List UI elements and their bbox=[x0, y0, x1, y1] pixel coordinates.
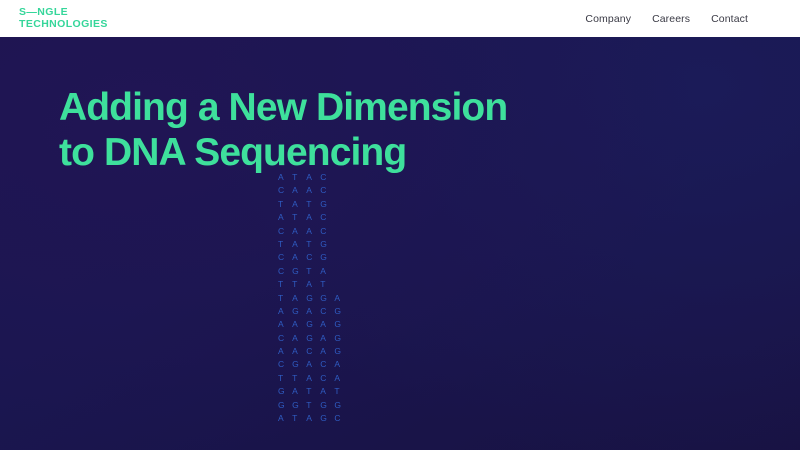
dna-row: CAGAG bbox=[278, 330, 348, 343]
dna-row: TAGGA bbox=[278, 290, 348, 303]
nav-link-careers[interactable]: Careers bbox=[652, 13, 690, 25]
dna-row: CAAC bbox=[278, 182, 348, 195]
primary-nav: Company Careers Contact bbox=[585, 13, 748, 25]
hero-headline-line-1: Adding a New Dimension bbox=[59, 85, 507, 130]
dna-base: A bbox=[278, 412, 292, 425]
dna-base: C bbox=[334, 412, 348, 425]
dna-row: CACG bbox=[278, 249, 348, 262]
dna-base: A bbox=[306, 412, 320, 425]
dna-row: CGTA bbox=[278, 263, 348, 276]
page-root: S—NGLE TECHNOLOGIES Company Careers Cont… bbox=[0, 0, 800, 450]
dna-row: ATAC bbox=[278, 209, 348, 222]
dna-row: TATG bbox=[278, 236, 348, 249]
brand-logo[interactable]: S—NGLE TECHNOLOGIES bbox=[19, 7, 108, 29]
dna-row: GATAT bbox=[278, 383, 348, 396]
brand-logo-line-1: S—NGLE bbox=[19, 7, 108, 18]
nav-link-company[interactable]: Company bbox=[585, 13, 631, 25]
dna-base: G bbox=[320, 412, 334, 425]
dna-row: AAGAG bbox=[278, 316, 348, 329]
dna-row: CGACA bbox=[278, 356, 348, 369]
dna-sequence-grid: ATACCAACTATGATACCAACTATGCACGCGTATTATTAGG… bbox=[278, 169, 348, 423]
dna-base: T bbox=[292, 412, 306, 425]
dna-row: TATG bbox=[278, 196, 348, 209]
dna-row: TTAT bbox=[278, 276, 348, 289]
dna-row: TTACA bbox=[278, 370, 348, 383]
nav-link-contact[interactable]: Contact bbox=[711, 13, 748, 25]
hero-headline-line-2: to DNA Sequencing bbox=[59, 130, 507, 175]
hero-section: ATACCAACTATGATACCAACTATGCACGCGTATTATTAGG… bbox=[0, 37, 800, 450]
dna-row: GGTGG bbox=[278, 397, 348, 410]
dna-row: ATAGC bbox=[278, 410, 348, 423]
brand-logo-line-2: TECHNOLOGIES bbox=[19, 19, 108, 30]
dna-row: AACAG bbox=[278, 343, 348, 356]
hero-headline: Adding a New Dimension to DNA Sequencing bbox=[59, 85, 507, 175]
dna-row: AGACG bbox=[278, 303, 348, 316]
site-header: S—NGLE TECHNOLOGIES Company Careers Cont… bbox=[0, 0, 800, 37]
dna-row: CAAC bbox=[278, 223, 348, 236]
